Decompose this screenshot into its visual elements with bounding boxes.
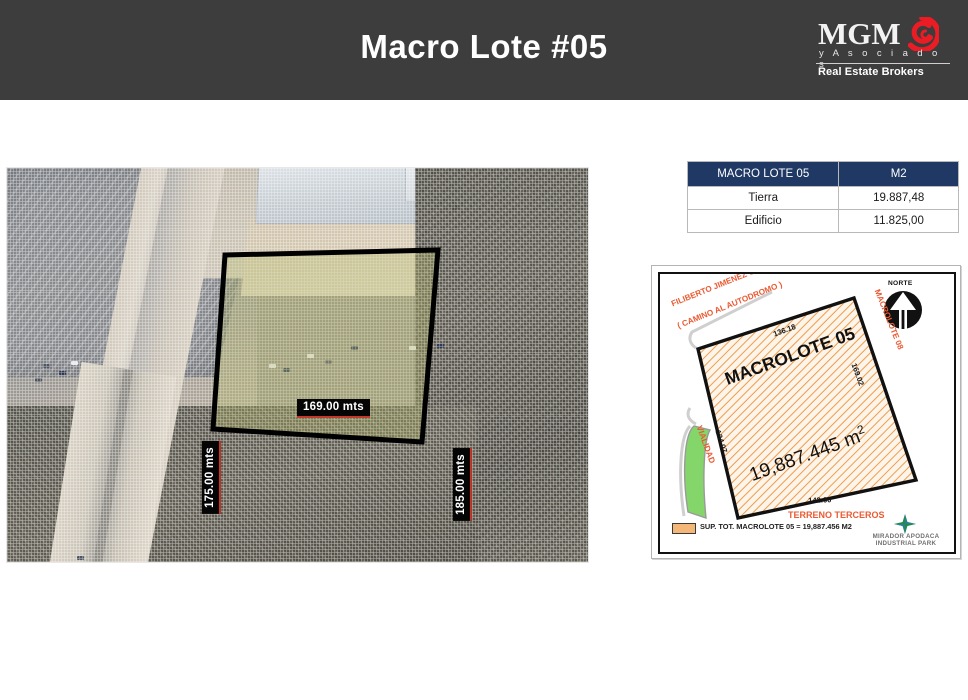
table-cell-value: 19.887,48 <box>839 187 959 210</box>
photo-dimension-right: 185.00 mts <box>453 448 472 521</box>
table-body: Tierra 19.887,48 Edificio 11.825,00 <box>688 187 959 233</box>
table-cell-value: 11.825,00 <box>839 210 959 233</box>
photo-dimension-top: 169.00 mts <box>297 399 370 418</box>
table-header-row: MACRO LOTE 05 M2 <box>688 162 959 187</box>
table-header-lot: MACRO LOTE 05 <box>688 162 839 187</box>
star-icon <box>894 514 916 534</box>
plot-map: NORTE FILIBERTO JIMENEZ OROZCO ( CAMINO … <box>651 265 961 559</box>
logo-brand-row: MGM <box>800 18 954 52</box>
swirl-icon <box>905 17 939 51</box>
industrial-park-line2: INDUSTRIAL PARK <box>860 540 952 547</box>
photo-lot-polygon <box>7 168 588 562</box>
industrial-park-line1: MIRADOR APODACA <box>860 533 952 540</box>
table-row: Tierra 19.887,48 <box>688 187 959 210</box>
table-cell-label: Edificio <box>688 210 839 233</box>
table-cell-label: Tierra <box>688 187 839 210</box>
logo-brand-text: MGM <box>818 18 901 50</box>
industrial-park-logo: MIRADOR APODACA INDUSTRIAL PARK <box>860 514 952 550</box>
legend-text: SUP. TOT. MACROLOTE 05 = 19,887.456 M2 <box>700 522 852 531</box>
logo-tagline: Real Estate Brokers <box>818 66 924 78</box>
legend-swatch <box>672 523 696 534</box>
table-head: MACRO LOTE 05 M2 <box>688 162 959 187</box>
page-header: Macro Lote #05 MGM y A s o c i a d o s R… <box>0 0 968 100</box>
logo-divider <box>816 63 950 64</box>
table-row: Edificio 11.825,00 <box>688 210 959 233</box>
map-dimension-bottom: 142.60 <box>808 495 832 505</box>
photo-dimension-left: 175.00 mts <box>202 441 221 514</box>
table-header-m2: M2 <box>839 162 959 187</box>
lot-summary-table: MACRO LOTE 05 M2 Tierra 19.887,48 Edific… <box>687 161 959 233</box>
plot-map-frame: NORTE FILIBERTO JIMENEZ OROZCO ( CAMINO … <box>658 272 956 554</box>
aerial-photo: 169.00 mts 110.00 mts 175.00 mts 185.00 … <box>7 168 588 562</box>
mgm-logo: MGM y A s o c i a d o s Real Estate Brok… <box>800 18 954 84</box>
